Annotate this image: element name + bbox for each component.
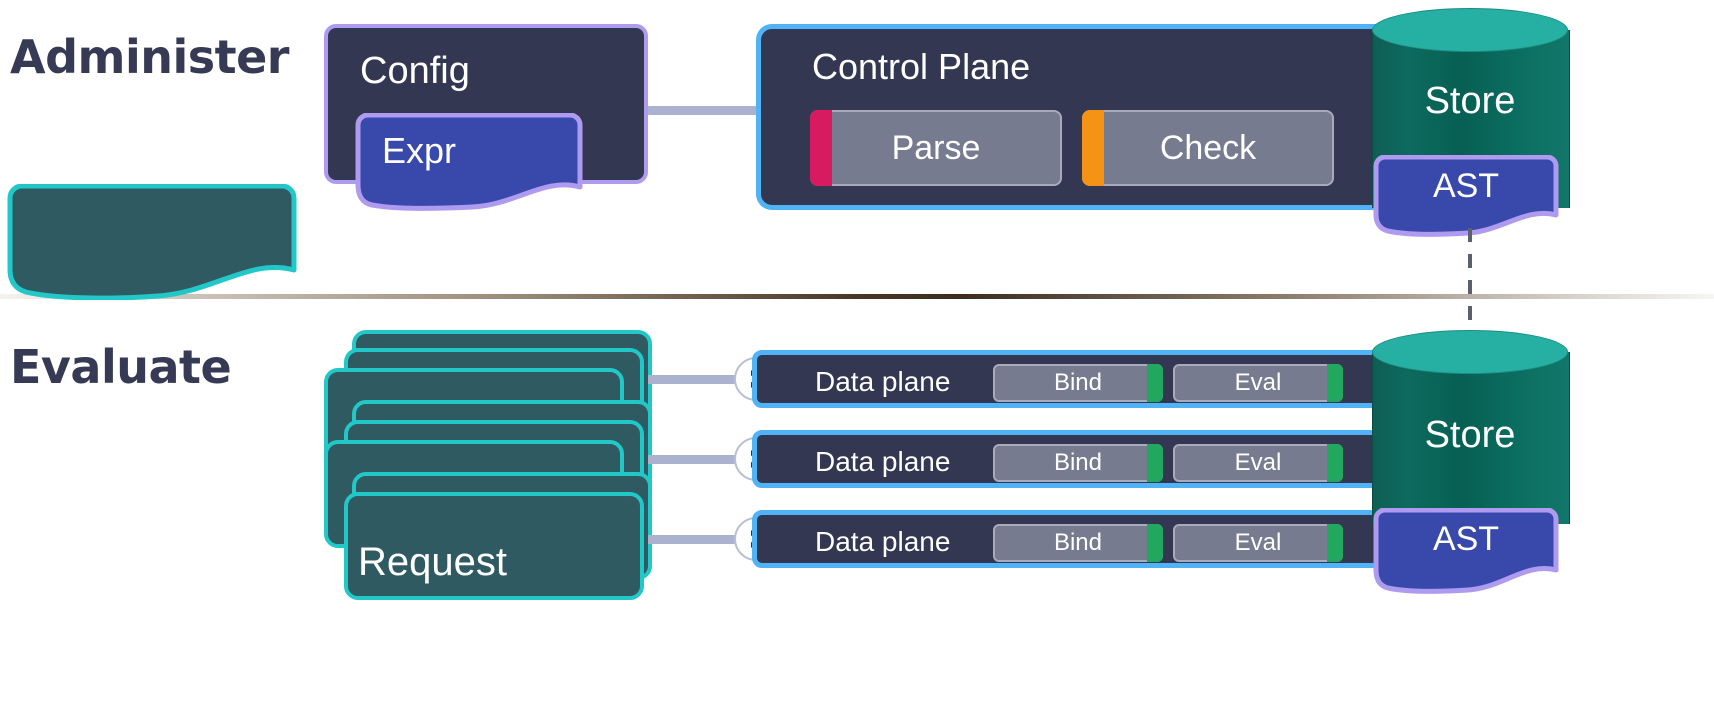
ast-label-administer: AST: [1368, 167, 1564, 206]
phase-chip-check-label: Check: [1160, 129, 1256, 168]
control-plane-title: Control Plane: [812, 46, 1030, 88]
cylinder-top-ellipse: [1372, 8, 1568, 52]
request-stack[interactable]: [318, 330, 658, 630]
phase-chip-parse[interactable]: Parse: [810, 110, 1062, 186]
check-accent-bar: [1082, 110, 1104, 186]
bind-accent-bar: [1147, 364, 1163, 402]
bind-accent-bar: [1147, 524, 1163, 562]
phase-chip-eval[interactable]: Eval: [1173, 364, 1343, 402]
data-plane-title: Data plane: [815, 366, 950, 398]
phase-chip-parse-label: Parse: [892, 129, 981, 168]
phase-chip-eval-label: Eval: [1235, 529, 1282, 557]
eval-accent-bar: [1327, 524, 1343, 562]
phase-chip-bind[interactable]: Bind: [993, 444, 1163, 482]
data-plane-title: Data plane: [815, 446, 950, 478]
phase-chip-eval-label: Eval: [1235, 449, 1282, 477]
eval-accent-bar: [1327, 444, 1343, 482]
request-front-document[interactable]: [0, 184, 304, 300]
data-plane-row[interactable]: Data plane Bind Eval: [752, 430, 1392, 488]
phase-chip-bind[interactable]: Bind: [993, 524, 1163, 562]
phase-chip-check[interactable]: Check: [1082, 110, 1334, 186]
store-cylinder-evaluate[interactable]: Store: [1372, 330, 1568, 524]
phase-chip-eval[interactable]: Eval: [1173, 524, 1343, 562]
section-label-administer: Administer: [10, 30, 289, 84]
phase-chip-bind-label: Bind: [1054, 369, 1102, 397]
store-label-evaluate: Store: [1372, 414, 1568, 457]
bind-accent-bar: [1147, 444, 1163, 482]
config-panel-title: Config: [360, 50, 470, 93]
cylinder-top-ellipse: [1372, 330, 1568, 374]
connector-request-to-dataplane-1: [648, 375, 746, 384]
data-plane-row[interactable]: Data plane Bind Eval: [752, 350, 1392, 408]
parse-accent-bar: [810, 110, 832, 186]
expr-label: Expr: [382, 130, 456, 172]
ast-sync-dashed-link: [1468, 228, 1472, 346]
phase-chip-bind-label: Bind: [1054, 449, 1102, 477]
phase-chip-eval-label: Eval: [1235, 369, 1282, 397]
diagram-canvas: Administer Evaluate Config Expr Control …: [0, 0, 1714, 705]
phase-chip-bind-label: Bind: [1054, 529, 1102, 557]
ast-label-evaluate: AST: [1368, 520, 1564, 559]
connector-request-to-dataplane-3: [648, 535, 746, 544]
eval-accent-bar: [1327, 364, 1343, 402]
phase-chip-bind[interactable]: Bind: [993, 364, 1163, 402]
data-plane-row[interactable]: Data plane Bind Eval: [752, 510, 1392, 568]
store-label-administer: Store: [1372, 80, 1568, 123]
request-label: Request: [358, 540, 507, 585]
data-plane-title: Data plane: [815, 526, 950, 558]
phase-chip-eval[interactable]: Eval: [1173, 444, 1343, 482]
connector-request-to-dataplane-2: [648, 455, 746, 464]
section-label-evaluate: Evaluate: [10, 340, 231, 394]
